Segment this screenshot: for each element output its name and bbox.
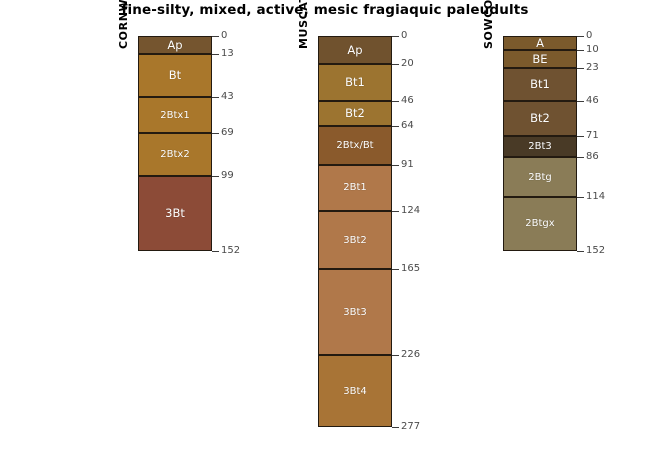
- horizon-label: Ap: [347, 44, 362, 57]
- horizon-band: Ap: [318, 36, 392, 64]
- horizon-label: Bt2: [530, 112, 550, 125]
- depth-tick-label: 114: [586, 191, 605, 202]
- horizon-label: 3Bt3: [343, 307, 367, 318]
- depth-tick: [392, 36, 399, 37]
- horizon-label: 3Bt2: [343, 235, 367, 246]
- horizon-label: Ap: [167, 39, 182, 52]
- depth-tick-label: 152: [221, 245, 240, 256]
- horizon-label: 3Bt: [165, 207, 185, 220]
- depth-tick-label: 165: [401, 263, 420, 274]
- depth-tick-label: 43: [221, 91, 234, 102]
- horizon-band: Bt2: [318, 101, 392, 126]
- horizon-label: 2Btg: [528, 172, 552, 183]
- depth-tick: [392, 101, 399, 102]
- depth-tick: [212, 251, 219, 252]
- depth-tick-label: 152: [586, 245, 605, 256]
- depth-tick-label: 277: [401, 421, 420, 432]
- site-label-sowcoon: SOWCOON: [482, 0, 495, 49]
- horizon-band: 2Bt3: [503, 136, 577, 157]
- depth-tick: [212, 54, 219, 55]
- depth-tick: [212, 36, 219, 37]
- depth-tick-label: 46: [401, 95, 414, 106]
- horizon-band: Bt1: [503, 68, 577, 100]
- depth-tick-label: 69: [221, 127, 234, 138]
- horizon-label: 2Btx/Bt: [336, 140, 373, 151]
- depth-tick: [577, 36, 584, 37]
- horizon-label: 2Btx2: [160, 149, 189, 160]
- horizon-label: 2Btx1: [160, 110, 189, 121]
- depth-tick: [577, 136, 584, 137]
- horizon-label: BE: [532, 53, 547, 66]
- horizon-band: 2Bt1: [318, 165, 392, 212]
- soil-profile-chart: fine-silty, mixed, active, mesic fragiaq…: [0, 0, 650, 450]
- horizon-label: Bt: [169, 69, 181, 82]
- horizon-band: Bt2: [503, 101, 577, 136]
- horizon-label: 3Bt4: [343, 386, 367, 397]
- horizon-band: BE: [503, 50, 577, 68]
- depth-tick-label: 86: [586, 151, 599, 162]
- depth-tick: [577, 101, 584, 102]
- depth-tick-label: 23: [586, 62, 599, 73]
- horizon-band: A: [503, 36, 577, 50]
- horizon-column: ApBt2Btx12Btx23Bt: [138, 36, 212, 251]
- horizon-band: 2Btx1: [138, 97, 212, 134]
- depth-tick: [392, 269, 399, 270]
- depth-tick-label: 99: [221, 170, 234, 181]
- depth-tick-label: 91: [401, 159, 414, 170]
- depth-tick-label: 124: [401, 205, 420, 216]
- chart-title: fine-silty, mixed, active, mesic fragiaq…: [0, 2, 650, 18]
- horizon-label: Bt1: [530, 78, 550, 91]
- horizon-label: 2Btgx: [525, 218, 554, 229]
- depth-tick-label: 46: [586, 95, 599, 106]
- depth-tick-label: 0: [401, 30, 407, 41]
- horizon-band: 2Btx2: [138, 133, 212, 175]
- horizon-band: 3Bt2: [318, 211, 392, 269]
- depth-tick-label: 64: [401, 120, 414, 131]
- horizon-band: 3Bt3: [318, 269, 392, 355]
- horizon-band: Bt1: [318, 64, 392, 101]
- horizon-band: Bt: [138, 54, 212, 96]
- horizon-column: ABEBt1Bt22Bt32Btg2Btgx: [503, 36, 577, 251]
- horizon-band: 2Btg: [503, 157, 577, 197]
- depth-tick: [577, 251, 584, 252]
- depth-tick: [577, 68, 584, 69]
- horizon-label: 2Bt1: [343, 182, 367, 193]
- depth-tick: [577, 50, 584, 51]
- depth-tick: [577, 157, 584, 158]
- depth-tick-label: 226: [401, 349, 420, 360]
- site-label-cornwall: CORNWALL: [117, 0, 130, 49]
- horizon-label: A: [536, 37, 544, 50]
- horizon-label: 2Bt3: [528, 141, 552, 152]
- depth-tick: [392, 355, 399, 356]
- depth-tick: [392, 211, 399, 212]
- depth-tick: [392, 126, 399, 127]
- depth-tick-label: 13: [221, 48, 234, 59]
- depth-tick: [392, 165, 399, 166]
- depth-tick: [577, 197, 584, 198]
- depth-tick: [212, 97, 219, 98]
- depth-tick: [392, 427, 399, 428]
- horizon-band: 2Btx/Bt: [318, 126, 392, 164]
- depth-tick: [212, 133, 219, 134]
- horizon-band: Ap: [138, 36, 212, 54]
- horizon-column: ApBt1Bt22Btx/Bt2Bt13Bt23Bt33Bt4: [318, 36, 392, 427]
- depth-tick: [392, 64, 399, 65]
- horizon-label: Bt1: [345, 76, 365, 89]
- depth-tick-label: 71: [586, 130, 599, 141]
- horizon-band: 3Bt4: [318, 355, 392, 427]
- horizon-label: Bt2: [345, 107, 365, 120]
- horizon-band: 3Bt: [138, 176, 212, 251]
- depth-tick-label: 20: [401, 58, 414, 69]
- depth-tick-label: 0: [586, 30, 592, 41]
- depth-tick-label: 10: [586, 44, 599, 55]
- horizon-band: 2Btgx: [503, 197, 577, 251]
- depth-tick-label: 0: [221, 30, 227, 41]
- depth-tick: [212, 176, 219, 177]
- site-label-muscatatuck: MUSCATATUCK: [297, 0, 310, 49]
